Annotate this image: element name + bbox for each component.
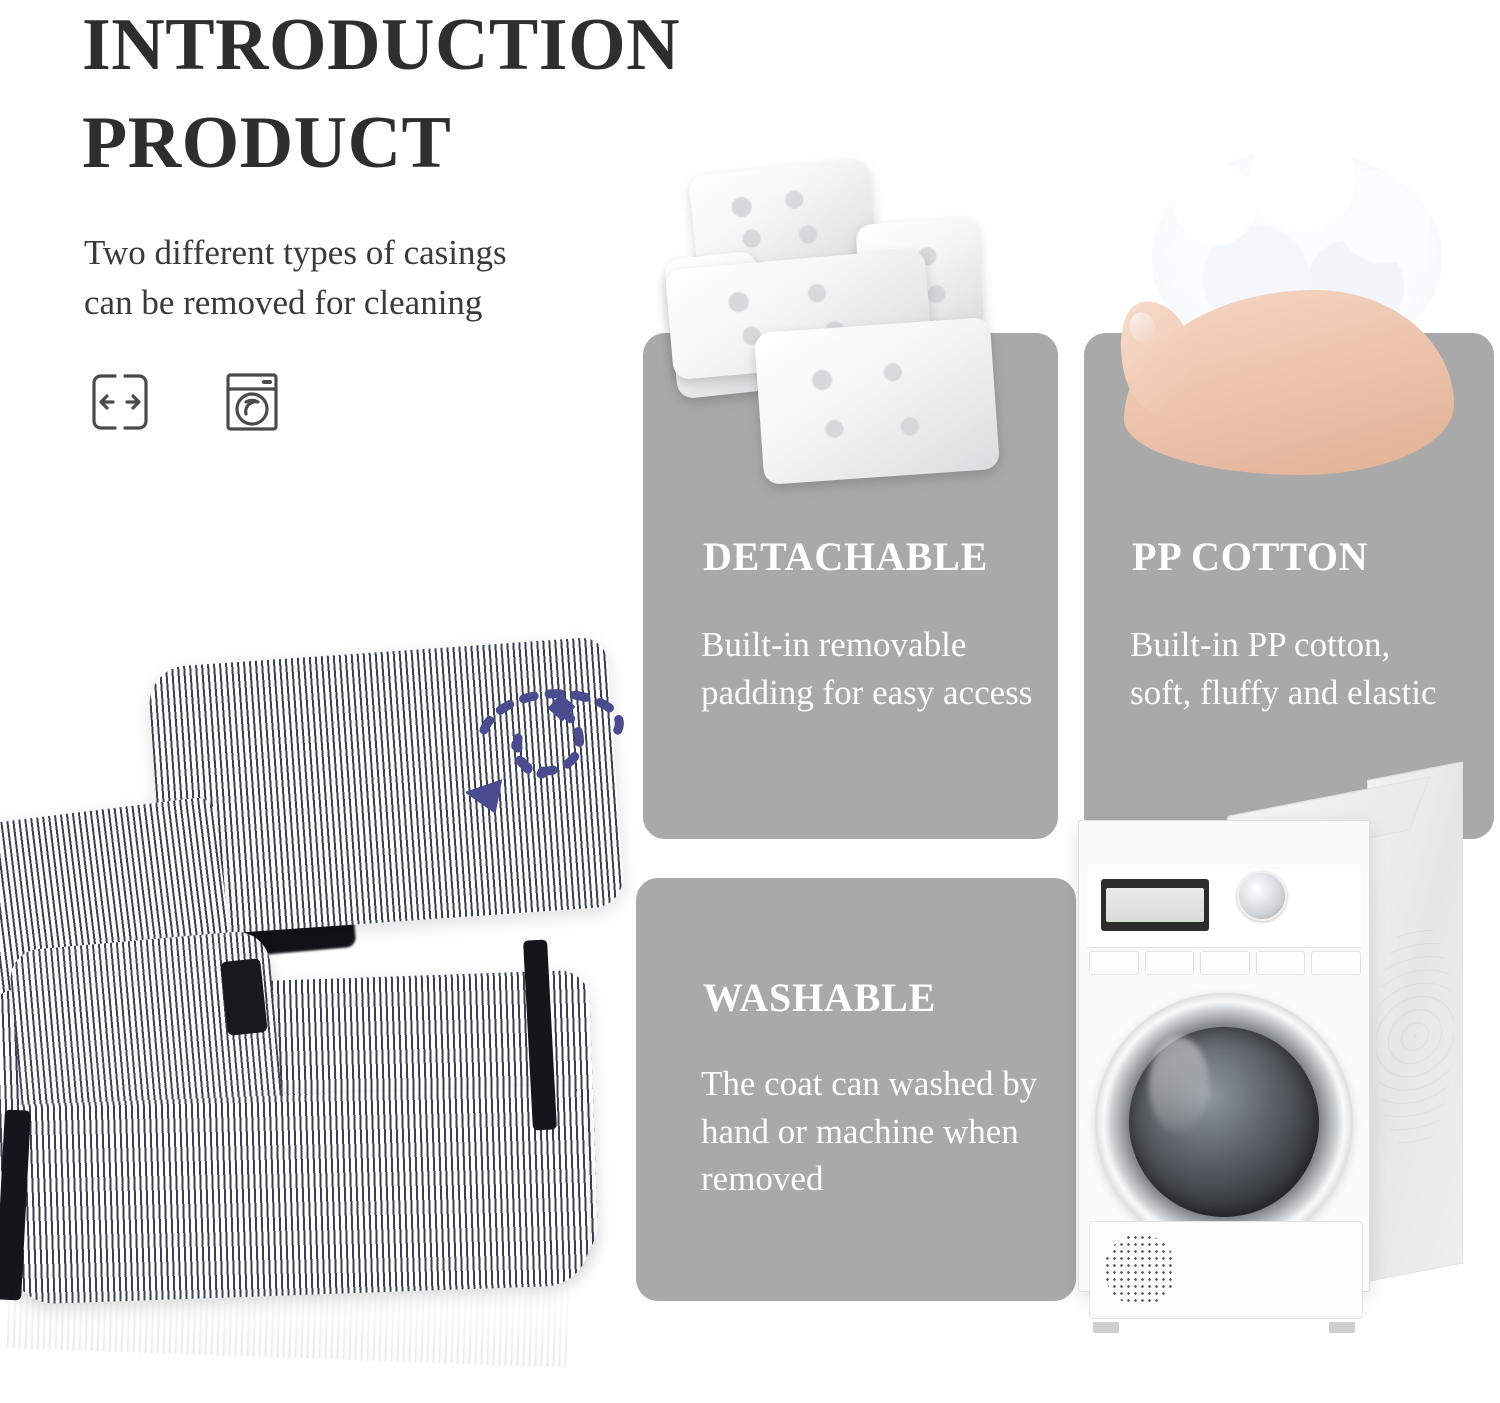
page-title-line-1: INTRODUCTION — [82, 0, 842, 94]
washer-door — [1095, 993, 1353, 1251]
washer-button — [1145, 951, 1195, 975]
dashed-rotation-arrow-icon — [466, 678, 636, 828]
cushion-pads-photo — [663, 163, 1023, 503]
feature-icon-row — [84, 366, 288, 438]
card-body-detachable: Built-in removable padding for easy acce… — [701, 621, 1041, 716]
washer-foot — [1093, 1322, 1119, 1333]
card-body-washable: The coat can washed by hand or machine w… — [701, 1060, 1061, 1203]
washer-button-row — [1089, 951, 1361, 973]
cushion-pad — [754, 317, 1000, 485]
washing-machine-photo — [1078, 780, 1458, 1310]
page-subtitle: Two different types of casings can be re… — [84, 228, 624, 327]
washer-button — [1200, 951, 1250, 975]
washer-lcd-display — [1101, 879, 1209, 931]
pp-cotton-photo — [1100, 150, 1490, 490]
card-title-detachable: DETACHABLE — [703, 537, 988, 577]
product-infographic-page: INTRODUCTION PRODUCT Two different types… — [0, 0, 1500, 1403]
page-subtitle-line-1: Two different types of casings — [84, 228, 624, 278]
washer-filter-vent — [1104, 1234, 1176, 1306]
page-subtitle-line-2: can be removed for cleaning — [84, 278, 624, 328]
washer-foot — [1329, 1322, 1355, 1333]
card-title-pp-cotton: PP COTTON — [1132, 537, 1369, 577]
washer-lower-drawer — [1089, 1221, 1363, 1319]
seat-buckle — [220, 958, 268, 1036]
washing-machine-icon — [216, 366, 288, 438]
card-title-washable: WASHABLE — [703, 978, 936, 1018]
feature-card-washable: WASHABLE The coat can washed by hand or … — [636, 878, 1076, 1301]
seat-reflection — [7, 1258, 570, 1367]
washer-button — [1256, 951, 1306, 975]
washer-button — [1311, 951, 1361, 975]
washer-front-body — [1078, 820, 1370, 1292]
detachable-split-icon — [84, 366, 156, 438]
washer-button — [1089, 951, 1139, 975]
washer-control-panel — [1087, 869, 1361, 948]
washer-feet — [1093, 1321, 1355, 1333]
card-body-pp-cotton: Built-in PP cotton, soft, fluffy and ela… — [1130, 621, 1460, 716]
washer-program-dial — [1237, 871, 1287, 921]
washer-side-panel — [1367, 761, 1463, 1282]
